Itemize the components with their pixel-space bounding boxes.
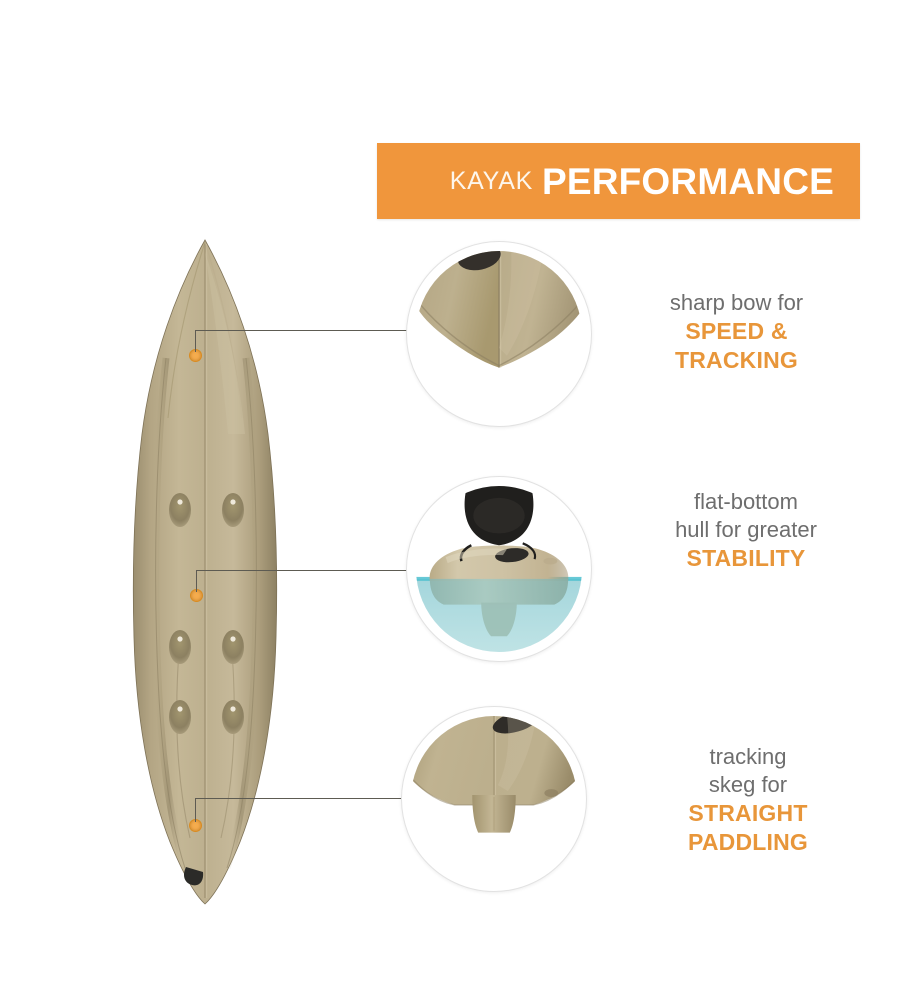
hull-below-water [430,579,568,605]
callout-plain-line: tracking [648,743,848,771]
scupper-hole [544,789,558,797]
callout-emph-line: TRACKING [634,346,839,375]
connector-horizontal-hull [196,570,414,571]
callout-plain-line: hull for greater [640,516,852,544]
scupper-screw [230,499,235,504]
scupper-screw [177,499,182,504]
callout-plain-line: skeg for [648,771,848,799]
scupper-plug [222,493,244,527]
banner-title-light: KAYAK [450,167,533,196]
detail-circle-bow[interactable] [406,241,592,427]
callout-plain-line: sharp bow for [634,289,839,317]
detail-circle-hull[interactable] [406,476,592,662]
scupper-plug [169,700,191,734]
scupper-screw [230,636,235,641]
callout-text-skeg: tracking skeg for STRAIGHT PADDLING [648,743,848,857]
hull-in-water-detail-photo [416,486,582,652]
bow-detail-photo [416,251,582,417]
banner-title-bold: PERFORMANCE [542,163,834,200]
callout-emph-line: STABILITY [640,544,852,573]
detail-circle-skeg[interactable] [401,706,587,892]
deck-fitting [543,558,557,565]
scupper-plug [222,700,244,734]
scupper-screw [177,636,182,641]
scupper-screw [230,706,235,711]
callout-plain-line: flat-bottom [640,488,852,516]
scupper-screw [177,706,182,711]
infographic-page: KAYAK PERFORMANCE [0,0,900,1000]
connector-vertical-skeg [195,798,196,822]
kayak-hull-image [100,238,310,906]
connector-horizontal-skeg [195,798,413,799]
connector-vertical-hull [196,570,197,592]
scupper-plug [222,630,244,664]
connector-horizontal-bow [195,330,411,331]
kayak-hull-illustration [100,238,310,906]
scupper-plug [169,493,191,527]
callout-emph-line: PADDLING [648,828,848,857]
scupper-plug [169,630,191,664]
connector-vertical-bow [195,330,196,352]
header-banner: KAYAK PERFORMANCE [377,143,860,219]
skeg-detail-photo [411,716,577,882]
callout-emph-line: SPEED & [634,317,839,346]
callout-text-hull: flat-bottom hull for greater STABILITY [640,488,852,573]
callout-emph-line: STRAIGHT [648,799,848,828]
seat-highlight [473,498,524,534]
callout-text-bow: sharp bow for SPEED & TRACKING [634,289,839,375]
